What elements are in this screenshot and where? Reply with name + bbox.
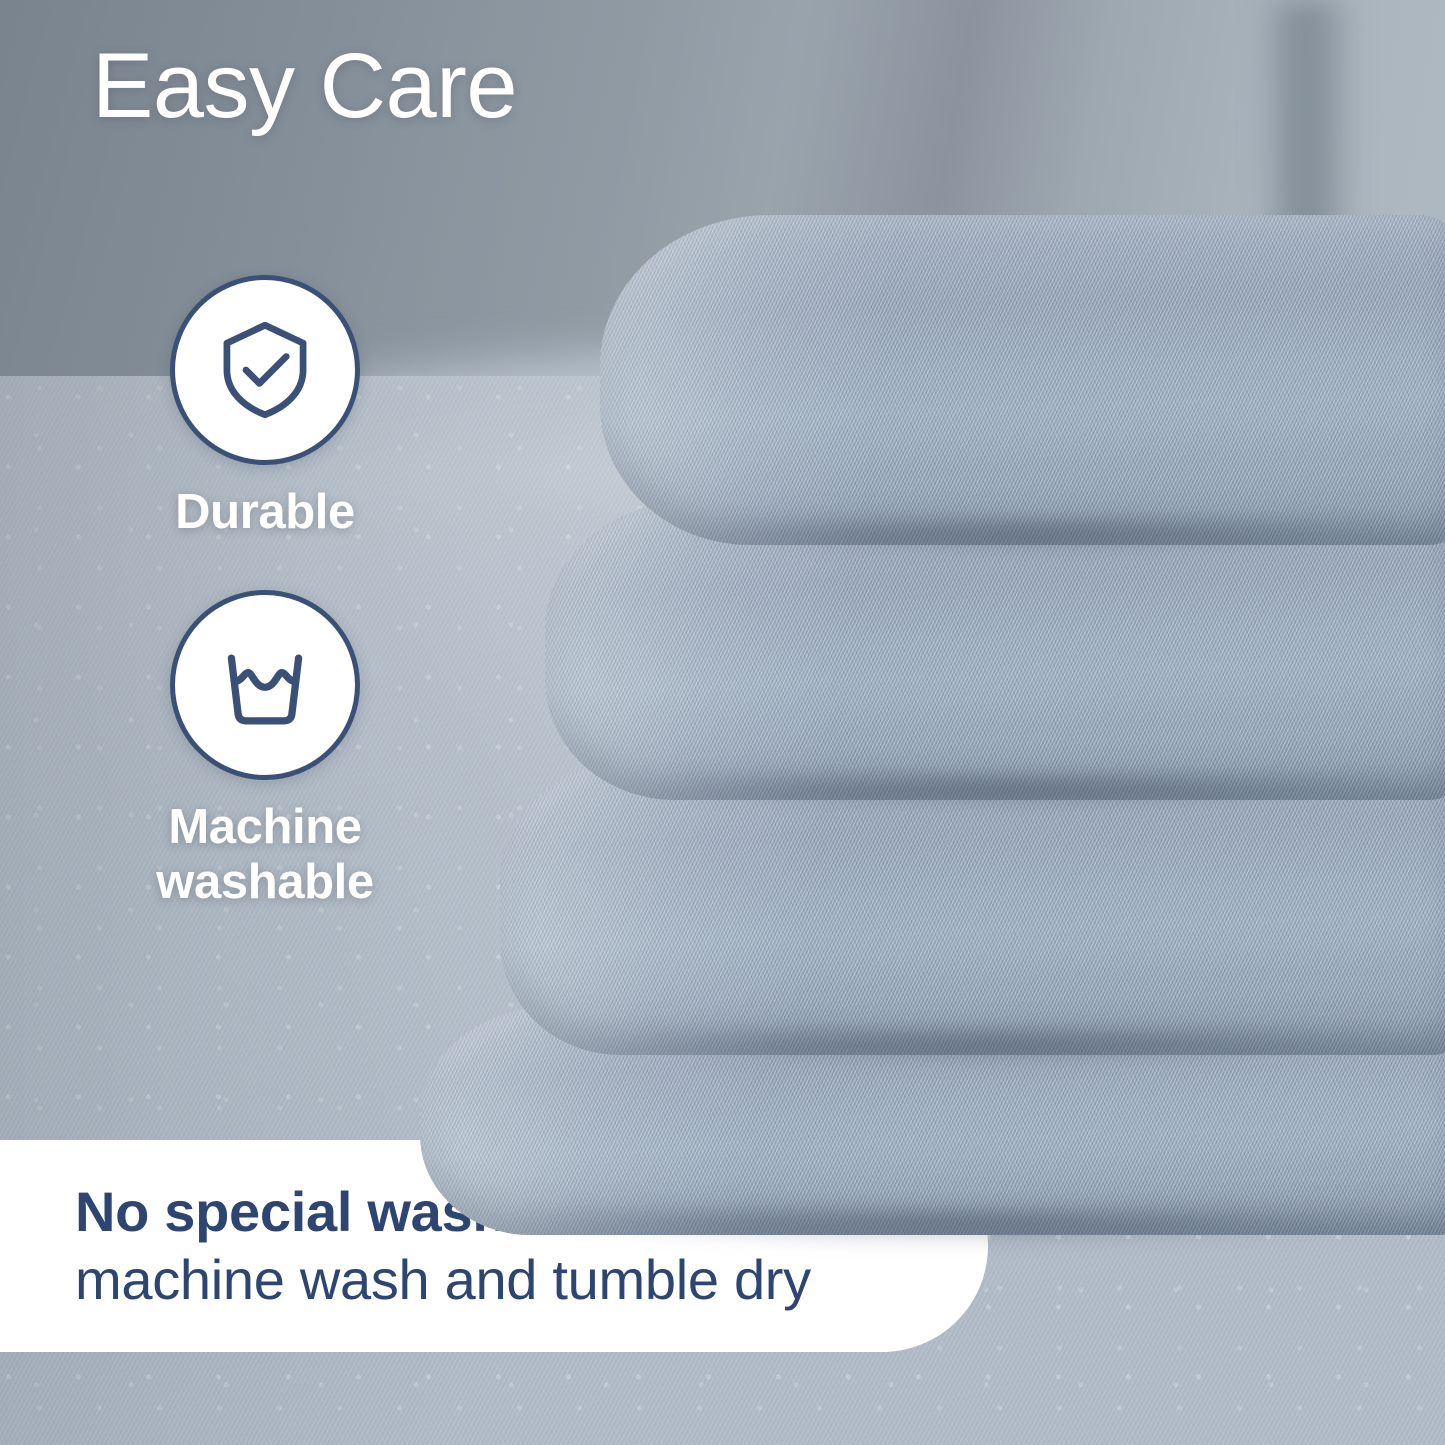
feature-machine-washable-label: Machine washable bbox=[100, 800, 430, 910]
product-feature-poster: Easy Care Durable bbox=[0, 0, 1445, 1445]
feature-label-line-2: washable bbox=[156, 855, 373, 909]
feature-durable-label: Durable bbox=[100, 485, 430, 540]
page-title: Easy Care bbox=[92, 38, 517, 135]
feature-spacer bbox=[115, 540, 415, 590]
feature-label-line-1: Machine bbox=[168, 800, 361, 854]
durable-badge bbox=[170, 275, 360, 465]
folded-sheet-top bbox=[600, 215, 1445, 545]
folded-sheet-stack bbox=[395, 215, 1445, 1175]
wash-basin-icon bbox=[209, 629, 321, 741]
feature-list: Durable Machine washable bbox=[115, 275, 415, 910]
feature-durable: Durable bbox=[170, 275, 360, 540]
feature-machine-washable: Machine washable bbox=[170, 590, 360, 910]
shield-check-icon bbox=[209, 314, 321, 426]
machine-washable-badge bbox=[170, 590, 360, 780]
